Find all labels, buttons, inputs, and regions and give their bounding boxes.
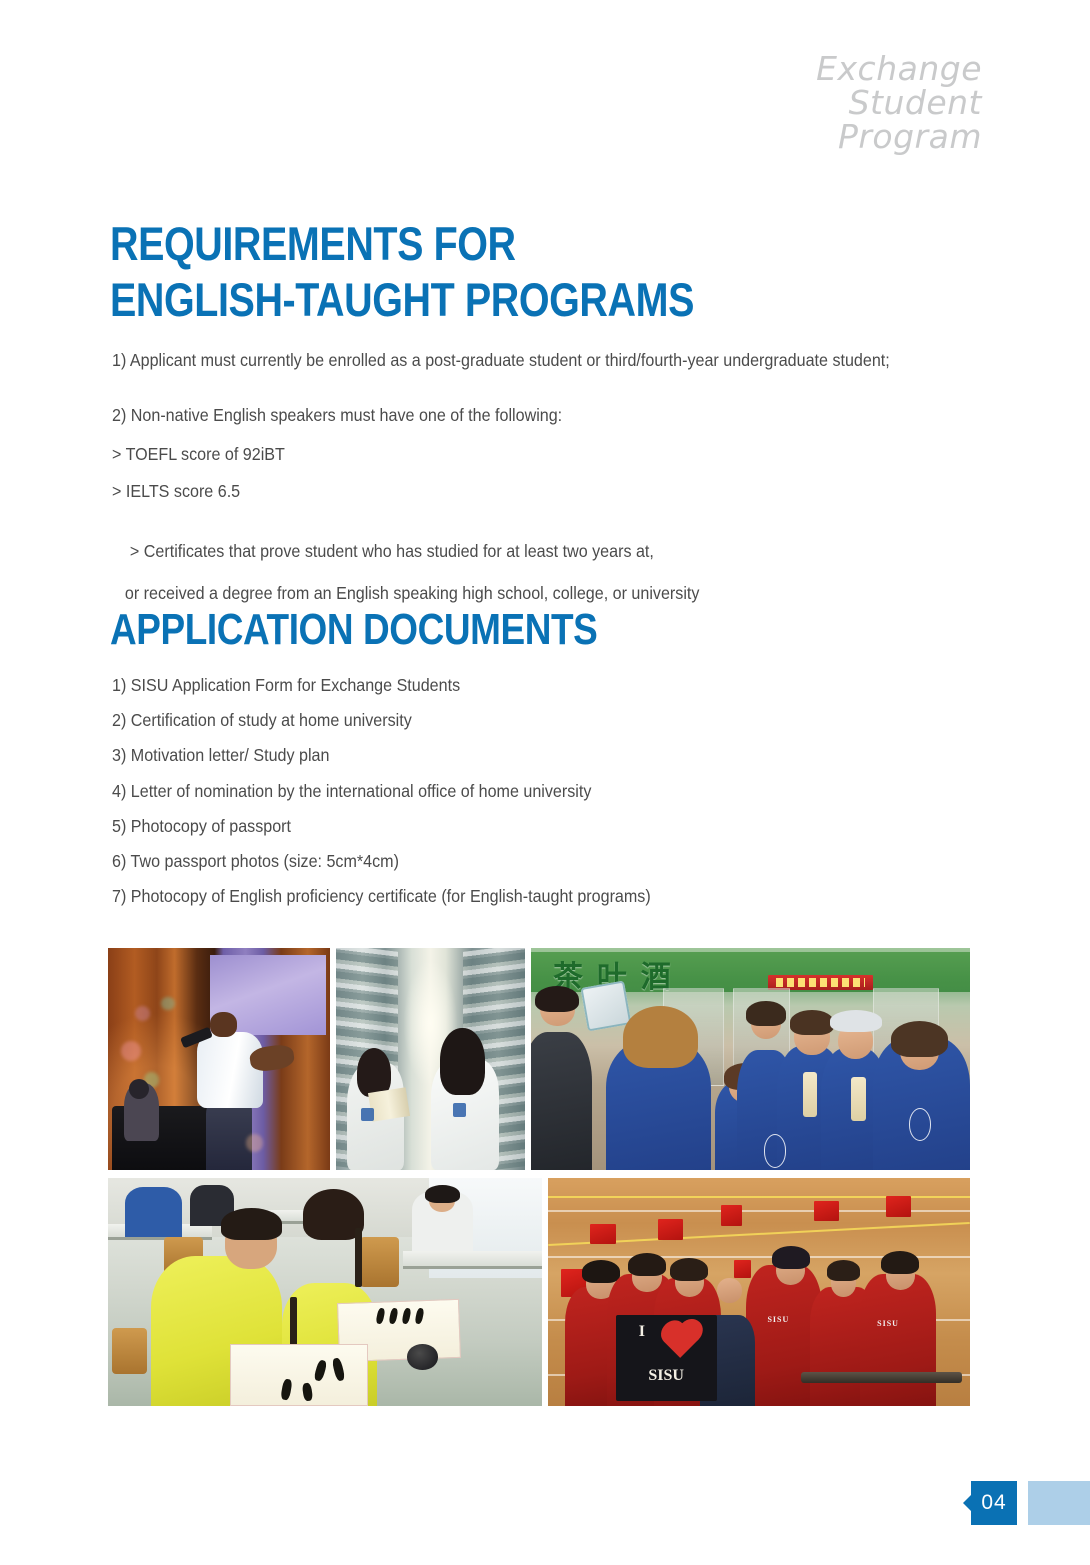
photo-sports-parade: SISU SISU SISU SISU I [548,1178,970,1406]
hoodie-sisu-text-3: SISU [767,1315,789,1324]
requirement-bullet-certificates-line-2: or received a degree from an English spe… [112,583,1014,604]
sign-text-sisu: SISU [648,1367,684,1385]
footer-accent-block [1028,1481,1090,1525]
header-watermark: Exchange Student Program [816,52,982,154]
requirement-bullet-ielts: > IELTS score 6.5 [112,481,1014,502]
documents-heading-line: APPLICATION DOCUMENTS [110,604,597,656]
documents-heading: APPLICATION DOCUMENTS [110,604,597,656]
photo-calligraphy-class [108,1178,542,1406]
brochure-page: Exchange Student Program REQUIREMENTS FO… [0,0,1090,1565]
document-item-6: 6) Two passport photos (size: 5cm*4cm) [112,851,1014,872]
requirements-heading: REQUIREMENTS FOR ENGLISH-TAUGHT PROGRAMS [110,216,694,328]
header-line-1: Exchange [816,52,982,86]
sign-letter-i: I [639,1323,645,1341]
photo-grid: 茶 叶 酒 [108,948,970,1406]
document-item-3: 3) Motivation letter/ Study plan [112,745,1014,766]
page-number-badge: 04 [971,1481,1017,1525]
requirement-bullet-toefl: > TOEFL score of 92iBT [112,444,1014,465]
requirements-heading-line-1: REQUIREMENTS FOR [110,216,694,272]
document-item-5: 5) Photocopy of passport [112,816,1014,837]
requirement-item-2: 2) Non-native English speakers must have… [112,405,1014,426]
document-item-2: 2) Certification of study at home univer… [112,710,1014,731]
header-line-2: Student [816,86,982,120]
header-line-3: Program [816,120,982,154]
photo-market-selfie: 茶 叶 酒 [531,948,970,1170]
requirement-bullet-certificates-line-1: > Certificates that prove student who ha… [130,541,654,561]
i-love-sisu-sign: I SISU [616,1315,717,1402]
photo-library-students [336,948,525,1170]
requirement-item-1: 1) Applicant must currently be enrolled … [112,350,1014,371]
heart-icon [664,1323,699,1358]
photo-concert-performance [108,948,330,1170]
document-item-1: 1) SISU Application Form for Exchange St… [112,675,1014,696]
hoodie-sisu-text-4: SISU [877,1319,899,1328]
requirements-heading-line-2: ENGLISH-TAUGHT PROGRAMS [110,272,694,328]
document-item-7: 7) Photocopy of English proficiency cert… [112,886,1014,907]
document-item-4: 4) Letter of nomination by the internati… [112,781,1014,802]
